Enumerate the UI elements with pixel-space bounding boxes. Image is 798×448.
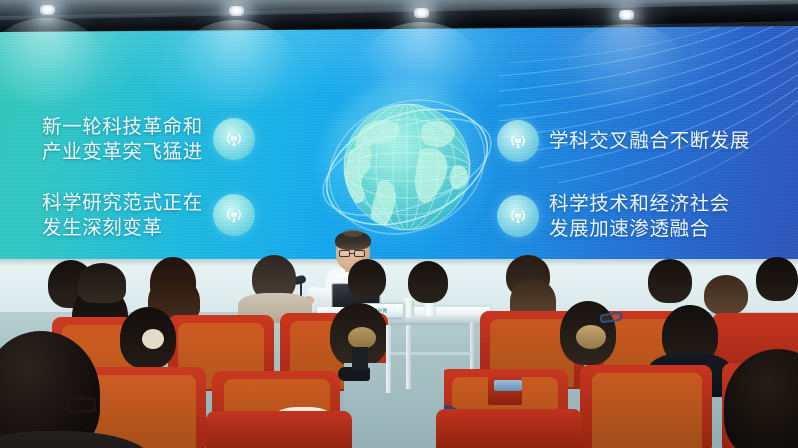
bullet-4-text: 科学技术和经济社会 发展加速渗透融合 [549, 191, 730, 242]
presenter-ankle [352, 347, 368, 371]
slide-bullet-4: 科学技术和经济社会 发展加速渗透融合 [497, 191, 730, 242]
broadcast-signal-icon [213, 118, 255, 160]
desk-leg-foreground [386, 325, 391, 393]
lecture-hall-photo: 新一轮科技革命和 产业变革突飞猛进 科学研究范式正在 发生深刻变革 [0, 0, 798, 448]
bullet-3-text: 学科交叉融合不断发展 [549, 128, 750, 153]
ceiling-light [40, 5, 55, 15]
slide-bullet-3: 学科交叉融合不断发展 [497, 120, 750, 162]
broadcast-signal-glyph [506, 129, 530, 153]
audience-head [704, 275, 748, 315]
auditorium-seat [436, 409, 582, 448]
globe-graphic [312, 74, 502, 260]
audience-head [756, 257, 798, 301]
broadcast-signal-glyph [506, 204, 530, 228]
broadcast-signal-glyph [222, 203, 246, 227]
led-wall-screen: 新一轮科技革命和 产业变革突飞猛进 科学研究范式正在 发生深刻变革 [0, 26, 798, 264]
folding-tablet [494, 380, 522, 391]
broadcast-signal-icon [213, 194, 255, 236]
bullet-1-text: 新一轮科技革命和 产业变革突飞猛进 [42, 114, 203, 165]
eyeglasses-icon [66, 397, 96, 413]
broadcast-signal-icon [497, 120, 539, 162]
ceiling-light [229, 6, 244, 16]
audience [0, 255, 798, 448]
audience-head-bun [142, 329, 164, 349]
presenter-hair-highlight [343, 229, 363, 237]
seat-back-panel [592, 373, 702, 448]
broadcast-signal-glyph [222, 127, 246, 151]
hair-clip [348, 327, 376, 349]
ceiling-light [414, 8, 429, 18]
audience-head [408, 261, 448, 303]
broadcast-signal-icon [497, 195, 539, 237]
globe-glow [320, 82, 494, 254]
hair-clip [576, 325, 606, 349]
slide-bullet-2: 科学研究范式正在 发生深刻变革 [42, 190, 255, 241]
audience-head [78, 263, 126, 303]
slide-bullet-1: 新一轮科技革命和 产业变革突飞猛进 [42, 114, 255, 165]
audience-head [348, 259, 386, 299]
auditorium-seat [206, 411, 352, 448]
bullet-2-text: 科学研究范式正在 发生深刻变革 [42, 190, 203, 241]
audience-head [648, 259, 692, 303]
desk-leg-foreground [406, 325, 411, 389]
ceiling-light [619, 10, 634, 20]
